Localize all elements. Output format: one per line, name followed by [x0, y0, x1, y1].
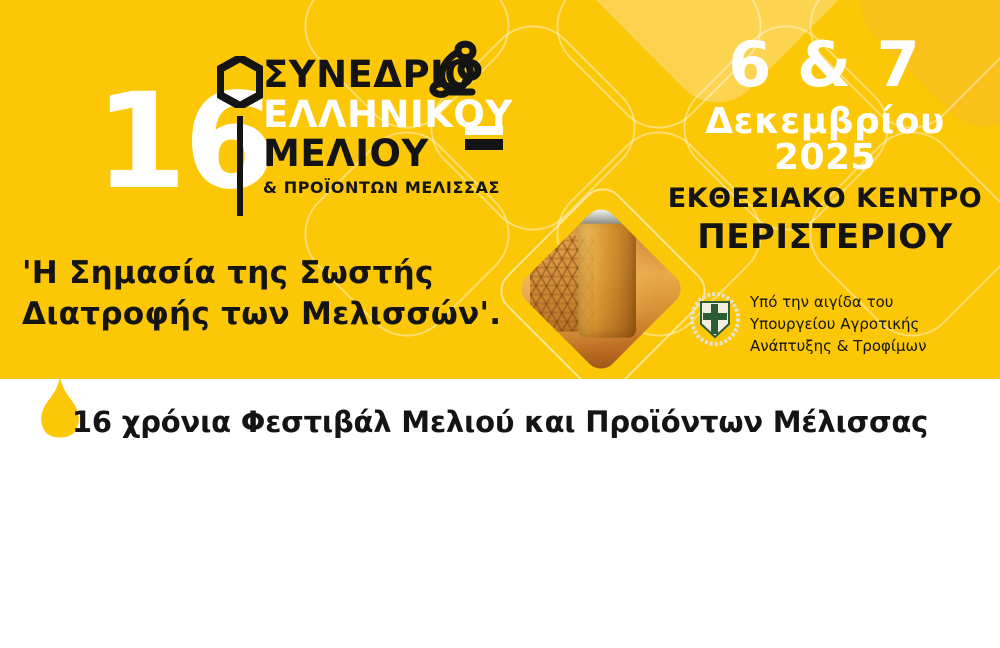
bee-stripes-icon — [465, 126, 503, 150]
slogan-line-1: 'Η Σημασία της Σωστής — [22, 253, 542, 294]
yellow-hero-panel: 16 ΣΥΝΕΔΡΙΟ ΕΛΛΗΝΙΚΟΥ ΜΕΛΙΟΥ & ΠΡΟΪΟΝΤΩΝ… — [0, 0, 1000, 379]
logo-line-products: & ΠΡΟΪΟΝΤΩΝ ΜΕΛΙΣΣΑΣ — [263, 178, 513, 197]
sponsors-section: ΔΙΟΡΓΑΝΩΣΗ ★ ★ ★ ★ ★ ★ ★ ★ ★ ★ ★ ★ ΕΟΣΣ … — [0, 505, 1000, 635]
event-date-venue: 6 & 7 Δεκεμβρίου 2025 ΕΚΘΕΣΙΑΚΟ ΚΕΝΤΡΟ Π… — [660, 34, 990, 254]
auspices-text: Υπό την αιγίδα του Υπουργείου Αγροτικής … — [750, 292, 927, 357]
auspices-line-1: Υπό την αιγίδα του — [750, 292, 927, 314]
event-venue-line-1: ΕΚΘΕΣΙΑΚΟ ΚΕΝΤΡΟ — [660, 185, 990, 212]
bee-icon — [428, 40, 490, 110]
auspices-block: Υπό την αιγίδα του Υπουργείου Αγροτικής … — [690, 292, 927, 357]
auspices-line-3: Ανάπτυξης & Τροφίμων — [750, 336, 927, 358]
conference-logo: 16 ΣΥΝΕΔΡΙΟ ΕΛΛΗΝΙΚΟΥ ΜΕΛΙΟΥ & ΠΡΟΪΟΝΤΩΝ… — [95, 48, 515, 233]
greek-coat-of-arms-icon — [690, 292, 740, 346]
hexagon-icon — [217, 56, 263, 108]
event-month-year: Δεκεμβρίου 2025 — [660, 104, 990, 176]
event-venue-line-2: ΠΕΡΙΣΤΕΡΙΟΥ — [660, 220, 990, 254]
logo-divider-bar — [237, 116, 243, 216]
conference-poster: 16 ΣΥΝΕΔΡΙΟ ΕΛΛΗΝΙΚΟΥ ΜΕΛΙΟΥ & ΠΡΟΪΟΝΤΩΝ… — [0, 0, 1000, 648]
honey-jar-glass-detail — [578, 218, 636, 338]
conference-slogan: 'Η Σημασία της Σωστής Διατροφής των Μελι… — [22, 253, 542, 335]
auspices-line-2: Υπουργείου Αγροτικής — [750, 314, 927, 336]
event-days: 6 & 7 — [660, 34, 990, 96]
festival-banner-text: 16 χρόνια Φεστιβάλ Μελιού και Προϊόντων … — [0, 405, 1000, 439]
slogan-line-2: Διατροφής των Μελισσών'. — [22, 294, 542, 335]
